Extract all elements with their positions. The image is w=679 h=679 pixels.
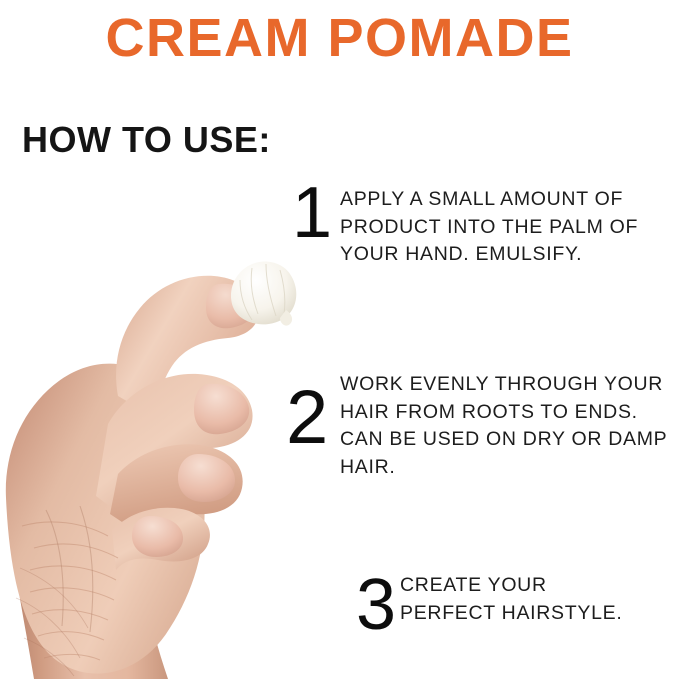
step-3-text: CREATE YOUR PERFECT HAIRSTYLE. (400, 572, 679, 627)
step-1-line-1: APPLY A SMALL AMOUNT OF (340, 186, 679, 214)
step-2: 2 WORK EVENLY THROUGH YOUR HAIR FROM ROO… (286, 371, 679, 482)
step-3-line-1: CREATE YOUR (400, 572, 679, 600)
step-3-line-2: PERFECT HAIRSTYLE. (400, 600, 679, 628)
step-2-number: 2 (286, 383, 340, 453)
step-1-text: APPLY A SMALL AMOUNT OF PRODUCT INTO THE… (340, 186, 679, 269)
step-1: 1 APPLY A SMALL AMOUNT OF PRODUCT INTO T… (292, 186, 679, 269)
step-1-line-2: PRODUCT INTO THE PALM OF (340, 214, 679, 242)
step-2-line-1: WORK EVENLY THROUGH YOUR (340, 371, 679, 399)
step-2-line-2: HAIR FROM ROOTS TO ENDS. (340, 399, 679, 427)
how-to-use-heading: HOW TO USE: (22, 120, 271, 160)
how-to-use-infographic: CREAM POMADE HOW TO USE: (0, 0, 679, 679)
step-3-number: 3 (356, 572, 400, 638)
page-title: CREAM POMADE (0, 10, 679, 67)
step-1-number: 1 (292, 180, 340, 246)
step-2-line-3: CAN BE USED ON DRY OR DAMP (340, 426, 679, 454)
step-2-text: WORK EVENLY THROUGH YOUR HAIR FROM ROOTS… (340, 371, 679, 482)
step-1-line-3: YOUR HAND. EMULSIFY. (340, 241, 679, 269)
hand-holding-cream-image (0, 248, 310, 679)
step-2-line-4: HAIR. (340, 454, 679, 482)
step-3: 3 CREATE YOUR PERFECT HAIRSTYLE. (356, 572, 679, 638)
